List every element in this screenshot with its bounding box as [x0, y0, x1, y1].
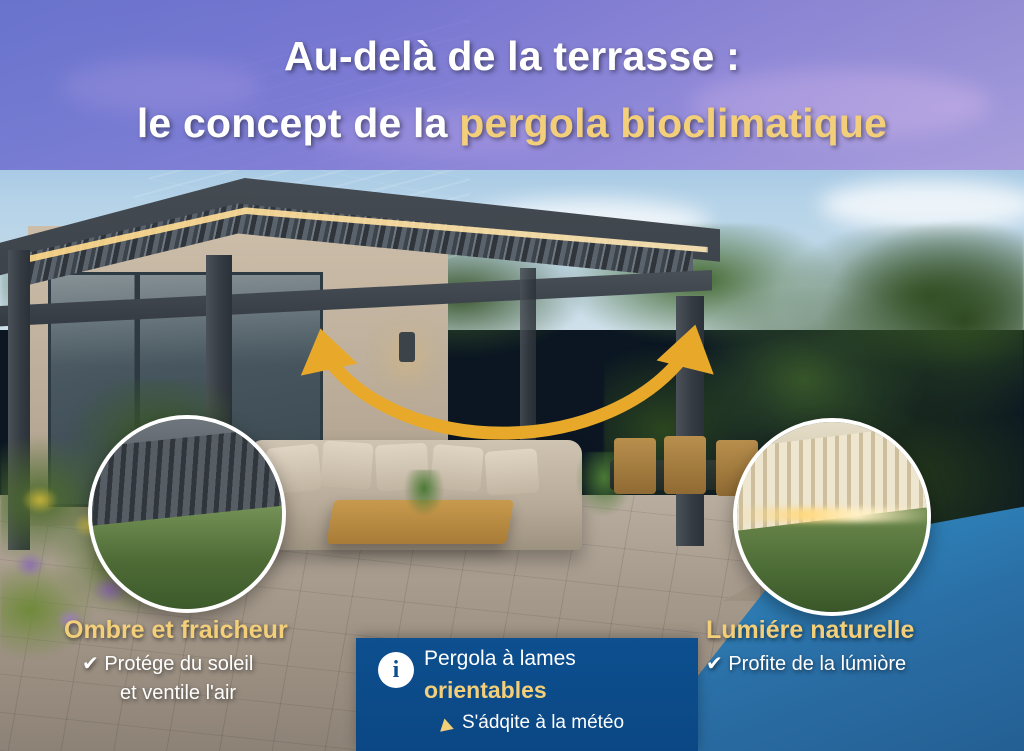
caption-left-line1: ✔ Protége du soleil	[64, 651, 288, 676]
inset-photo-light	[733, 418, 931, 616]
potted-plant	[404, 470, 444, 516]
caption-right: Lumiére naturelle ✔ Profite de la lúmiòr…	[706, 616, 914, 676]
info-panel-line3: S'ádqite à la météo	[462, 712, 624, 734]
caption-right-title: Lumiére naturelle	[706, 616, 914, 645]
info-icon: i	[378, 652, 414, 688]
cushion	[485, 448, 540, 496]
caption-left-title: Ombre et fraicheur	[64, 616, 288, 645]
caption-left: Ombre et fraicheur ✔ Protége du soleil e…	[64, 616, 288, 705]
inset-photo-shade	[88, 415, 286, 613]
caption-left-line2: et ventile l'air	[64, 682, 288, 705]
banner-title-line1: Au-delà de la terrasse :	[0, 33, 1024, 80]
title-banner: Au-delà de la terrasse : le concept de l…	[0, 0, 1024, 170]
info-panel-line1: Pergola à lames	[424, 647, 576, 671]
louver-led-glow	[737, 508, 931, 522]
airflow-arrows	[280, 320, 740, 450]
caption-right-line1: ✔ Profite de la lúmiòre	[706, 651, 914, 676]
banner-title-line2-accent: pergola bioclimatique	[459, 100, 887, 146]
arrow-icon	[440, 718, 456, 735]
poster-image: Au-delà de la terrasse : le concept de l…	[0, 0, 1024, 751]
banner-title-line2-plain: le concept de la	[137, 100, 459, 146]
info-panel: i Pergola à lames orientables S'ádqite à…	[356, 638, 698, 751]
info-panel-line2: orientables	[424, 677, 547, 704]
banner-title-line2: le concept de la pergola bioclimatique	[0, 100, 1024, 147]
